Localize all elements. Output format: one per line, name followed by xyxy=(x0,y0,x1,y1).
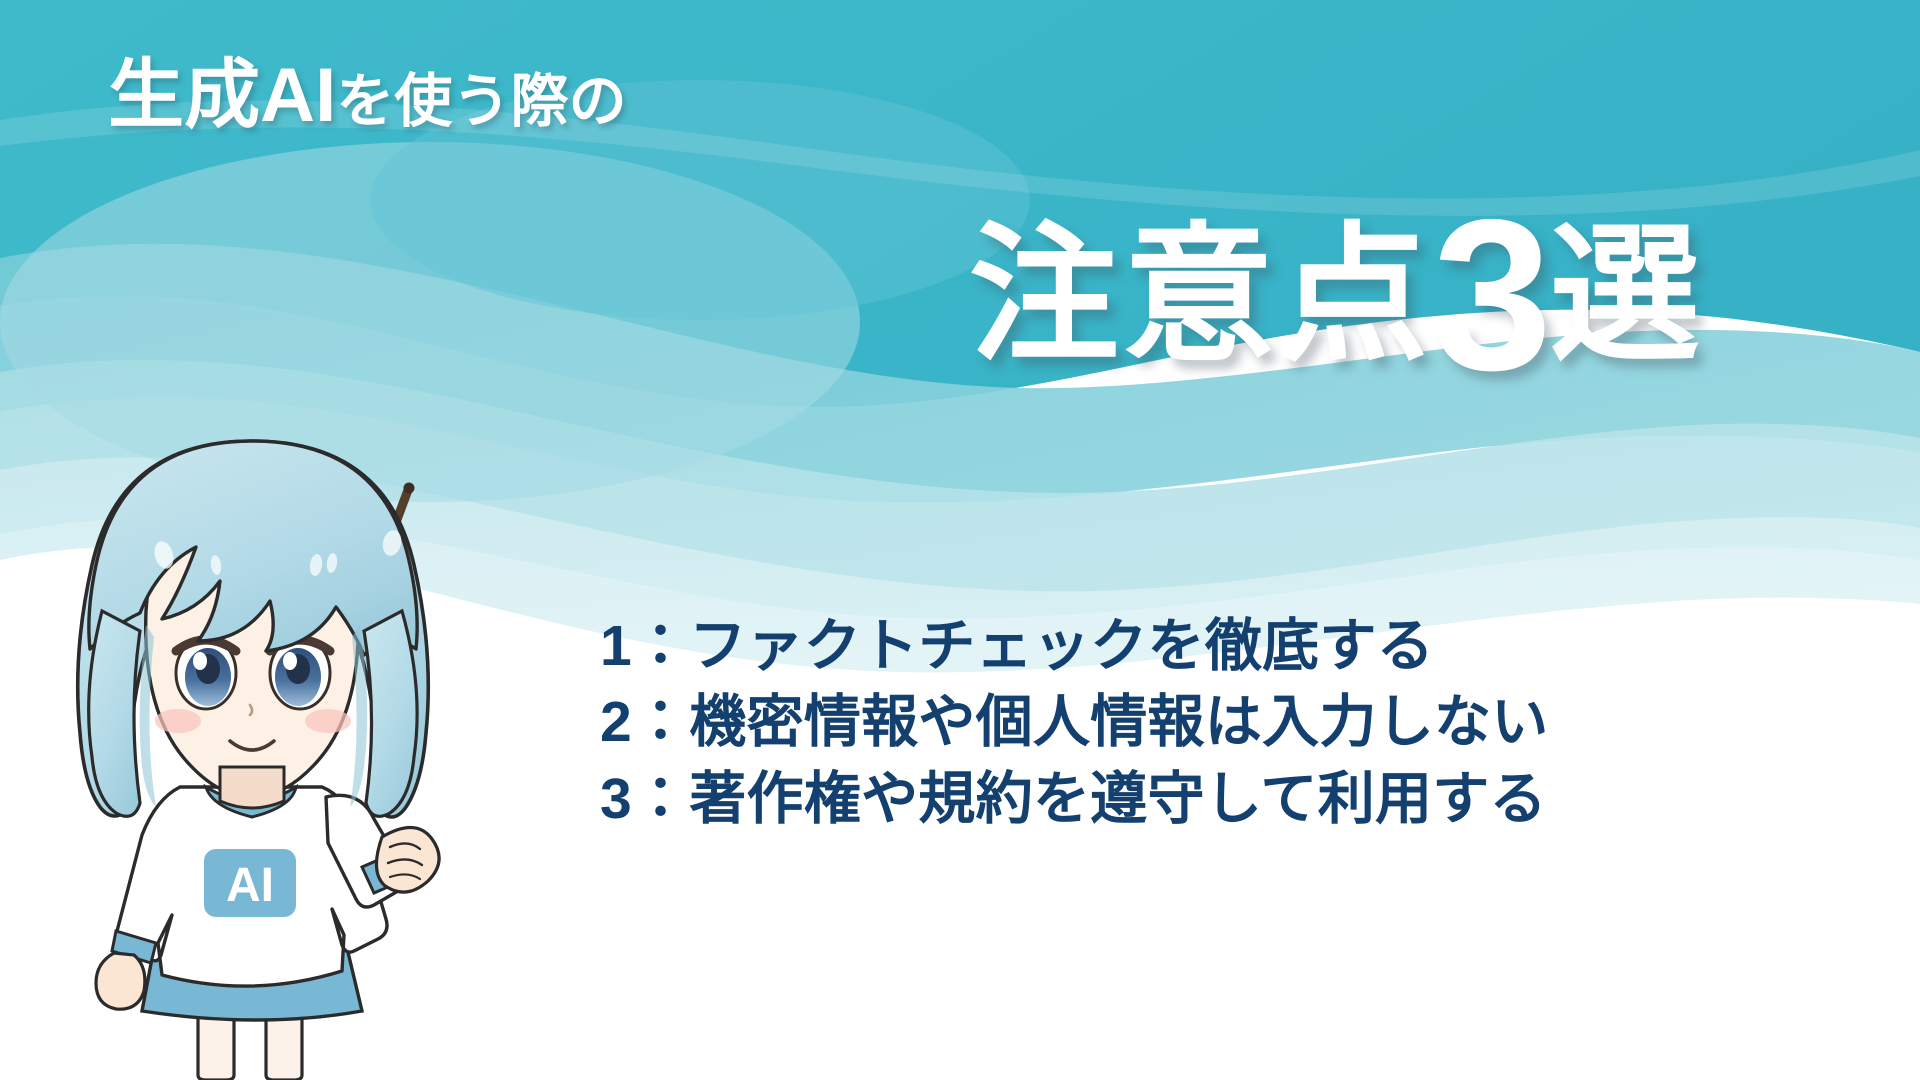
list-item: 1：ファクトチェックを徹底する xyxy=(600,608,1549,684)
slide-canvas: 生成AIを使う際の 注意点3選 1：ファクトチェックを徹底する 2：機密情報や個… xyxy=(0,0,1920,1080)
ai-badge-text: AI xyxy=(226,859,274,912)
list-item-text: 2：機密情報や個人情報は入力しない xyxy=(600,690,1549,754)
bullet-list: 1：ファクトチェックを徹底する 2：機密情報や個人情報は入力しない 3：著作権や… xyxy=(600,608,1549,837)
ai-mascot-character: AI xyxy=(30,415,550,1080)
list-item: 3：著作権や規約を遵守して利用する xyxy=(600,761,1549,837)
list-item-text: 3：著作権や規約を遵守して利用する xyxy=(600,767,1547,831)
list-item-text: 1：ファクトチェックを徹底する xyxy=(600,614,1434,678)
character-left-hand xyxy=(96,953,145,1009)
list-item: 2：機密情報や個人情報は入力しない xyxy=(600,684,1549,760)
ai-badge-icon: AI xyxy=(202,847,298,919)
